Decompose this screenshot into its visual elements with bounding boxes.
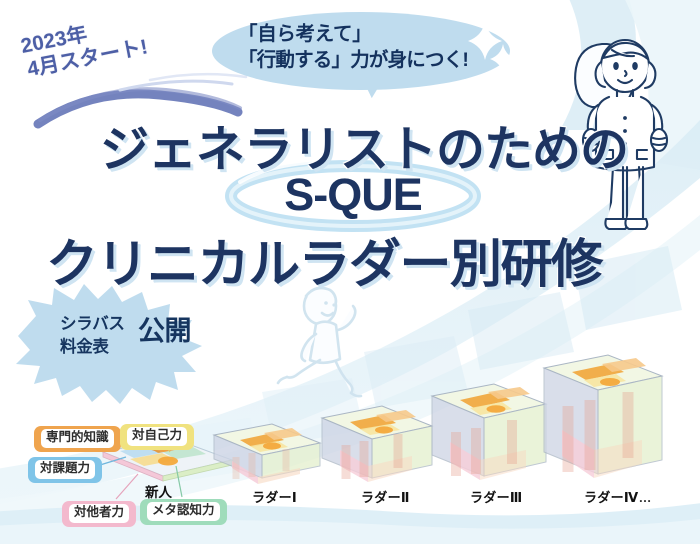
ladder-label-4: ラダーⅣ… [584, 487, 652, 506]
start-date-label: 2023年 4月スタート! [19, 2, 204, 104]
callout-metacognition: メタ認知力 [140, 499, 227, 525]
callout-label: 対自己力 [127, 427, 187, 446]
poster-canvas: 2023年 4月スタート! 「自ら考えて」 「行動する」力が身につく! ジェネラ… [0, 0, 700, 544]
brand-logo: S-QUE [228, 168, 478, 222]
brand-name: S-QUE [228, 168, 478, 222]
callout-label: 対課題力 [35, 460, 95, 479]
badge-main-text: 公開 [138, 316, 191, 346]
badge-subtext-line2: 料金表 [60, 336, 125, 359]
callout-self-competency: 対自己力 [120, 424, 194, 450]
callout-label: 対他者力 [69, 504, 129, 523]
ladder-label-3: ラダーⅢ [470, 487, 523, 506]
ladder-more-ellipsis: … [638, 490, 651, 505]
callout-specialized-knowledge: 専門的知識 [34, 426, 121, 452]
title-line-3: クリニカルラダー別研修 [46, 222, 602, 297]
callout-label: メタ認知力 [147, 502, 220, 521]
running-person-icon [278, 288, 361, 396]
ladder-label-2: ラダーⅡ [361, 487, 410, 506]
sparkle-star-small-icon [490, 44, 516, 74]
callout-task-competency: 対課題力 [28, 457, 102, 483]
stage-label-newcomer: 新人 [145, 481, 172, 501]
syllabus-release-badge: シラバス 料金表 公開 [18, 296, 218, 376]
ladder-label-4-text: ラダーⅣ [584, 490, 638, 505]
badge-subtext: シラバス 料金表 [60, 313, 125, 360]
speech-bubble-tail [359, 77, 383, 100]
badge-subtext-line1: シラバス [60, 313, 125, 336]
ladder-label-1: ラダーⅠ [252, 487, 297, 506]
ladder-cube-4 [544, 355, 662, 478]
ladder-cube-2 [322, 406, 432, 482]
callout-label: 専門的知識 [41, 429, 114, 448]
ladder-cube-1 [214, 424, 320, 484]
callout-others-competency: 対他者力 [62, 501, 136, 527]
ladder-cube-3 [432, 384, 546, 480]
